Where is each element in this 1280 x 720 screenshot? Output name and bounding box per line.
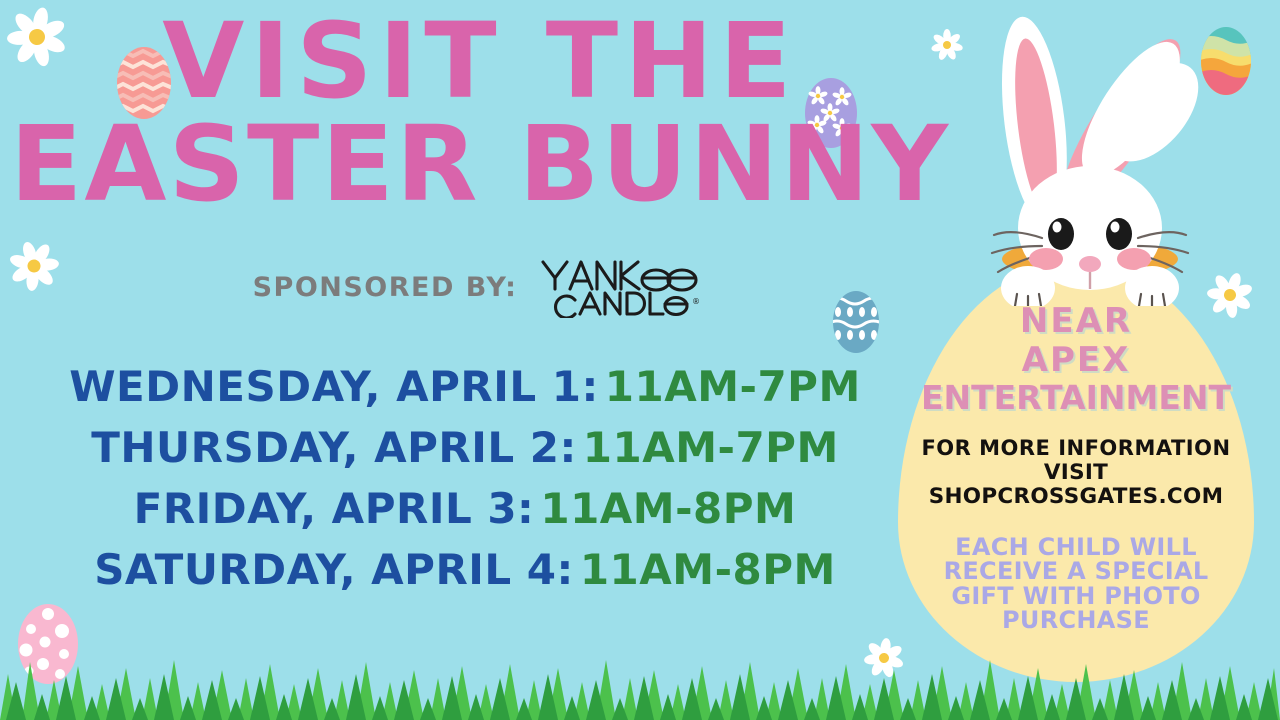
schedule-row: WEDNESDAY, APRIL 1:11AM-7PM [0, 366, 930, 408]
schedule-time: 11AM-7PM [583, 423, 839, 472]
schedule-day: SATURDAY, APRIL 4: [94, 545, 574, 594]
schedule-time: 11AM-8PM [540, 484, 796, 533]
headline-line-1: VISIT THE [0, 12, 970, 111]
info-egg-content: NEAR APEX ENTERTAINMENT FOR MORE INFORMA… [898, 262, 1254, 682]
website-url[interactable]: VISIT SHOPCROSSGATES.COM [898, 461, 1254, 509]
schedule-list: WEDNESDAY, APRIL 1:11AM-7PM THURSDAY, AP… [0, 366, 930, 610]
schedule-row: FRIDAY, APRIL 3:11AM-8PM [0, 488, 930, 530]
bunny-left-eye [1048, 218, 1074, 250]
gift-line-3: GIFT WITH PHOTO [898, 584, 1254, 608]
location-line-1: NEAR [898, 304, 1254, 339]
sponsor-row: SPONSORED BY: [0, 256, 960, 318]
bunny-right-eye [1106, 218, 1132, 250]
schedule-day: FRIDAY, APRIL 3: [134, 484, 535, 533]
easter-egg-rainbow-icon [1196, 22, 1256, 98]
gift-line-1: EACH CHILD WILL [898, 535, 1254, 559]
gift-line-4: PURCHASE [898, 608, 1254, 632]
headline-line-2: EASTER BUNNY [0, 115, 970, 214]
schedule-time: 11AM-8PM [580, 545, 836, 594]
location-line-3: ENTERTAINMENT [898, 381, 1254, 415]
registered-trademark-symbol: ® [692, 297, 700, 306]
grass-border [0, 648, 1280, 720]
location-text: NEAR APEX ENTERTAINMENT [898, 262, 1254, 415]
schedule-row: THURSDAY, APRIL 2:11AM-7PM [0, 427, 930, 469]
yankee-candle-logo: ® [539, 256, 707, 318]
schedule-time: 11AM-7PM [605, 362, 861, 411]
sponsored-by-label: SPONSORED BY: [253, 272, 518, 303]
more-info-line-1: FOR MORE INFORMATION [898, 437, 1254, 461]
easter-bunny-poster: VISIT THE EASTER BUNNY SPONSORED BY: [0, 0, 1280, 720]
easter-bunny-illustration [980, 6, 1200, 306]
gift-notice-text: EACH CHILD WILL RECEIVE A SPECIAL GIFT W… [898, 535, 1254, 633]
gift-line-2: RECEIVE A SPECIAL [898, 559, 1254, 583]
more-info-text: FOR MORE INFORMATION VISIT SHOPCROSSGATE… [898, 437, 1254, 509]
location-line-2: APEX [898, 343, 1254, 378]
page-title: VISIT THE EASTER BUNNY [0, 12, 960, 214]
schedule-day: THURSDAY, APRIL 2: [91, 423, 577, 472]
schedule-day: WEDNESDAY, APRIL 1: [69, 362, 599, 411]
schedule-row: SATURDAY, APRIL 4:11AM-8PM [0, 549, 930, 591]
